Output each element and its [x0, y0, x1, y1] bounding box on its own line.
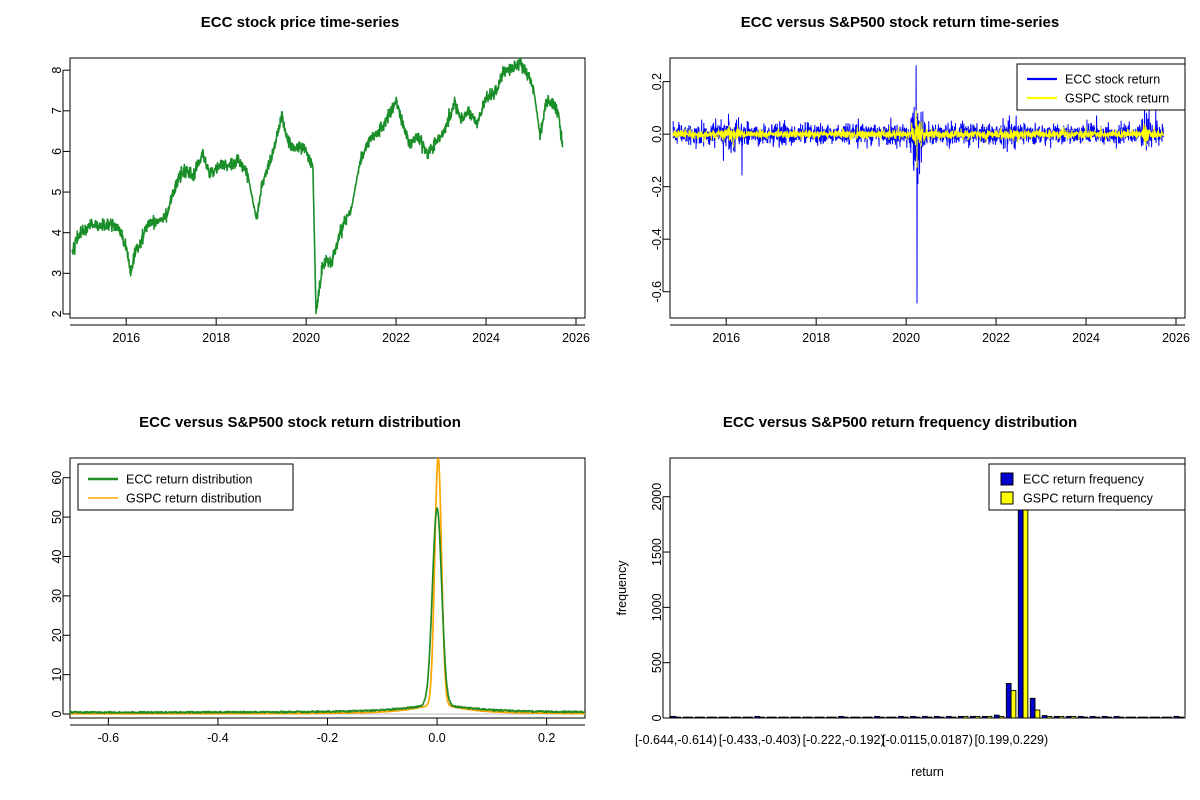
gspc-bar: [1167, 717, 1172, 718]
gspc-bar: [939, 717, 944, 718]
gspc-bar: [724, 717, 729, 718]
ecc-bar: [899, 716, 904, 718]
gspc-bar: [1119, 717, 1124, 718]
ecc-bar: [791, 717, 796, 718]
ecc-bar: [1102, 716, 1107, 718]
ecc-bar: [1162, 717, 1167, 718]
return-timeseries-chart: -0.6-0.4-0.20.00.22016201820202022202420…: [600, 0, 1200, 400]
legend-label: ECC return distribution: [126, 473, 252, 487]
panel-ecc-gspc-return-timeseries: ECC versus S&P500 stock return time-seri…: [600, 0, 1200, 400]
gspc-bar: [963, 716, 968, 718]
gspc-bar: [1071, 716, 1076, 718]
y-tick-label: 1500: [650, 538, 664, 566]
x-tick-label: 2020: [892, 331, 920, 345]
y-tick-label: 60: [50, 471, 64, 485]
x-tick-label: 2026: [1162, 331, 1190, 345]
gspc-bar: [700, 717, 705, 718]
ecc-bar: [1150, 717, 1155, 718]
y-tick-label: 1000: [650, 593, 664, 621]
ecc-bar: [827, 717, 832, 718]
x-tick-label: 2018: [802, 331, 830, 345]
panel-ecc-gspc-return-frequency: ECC versus S&P500 return frequency distr…: [600, 400, 1200, 800]
ecc-bar: [1066, 716, 1071, 718]
y-tick-label: 40: [50, 549, 64, 563]
ecc-bar: [1042, 716, 1047, 718]
gspc-bar: [1035, 710, 1040, 718]
x-tick-label: [-0.222,-0.192): [803, 733, 885, 747]
y-tick-label: 6: [50, 148, 64, 155]
legend-label: ECC return frequency: [1023, 473, 1145, 487]
x-tick-label: 2018: [202, 331, 230, 345]
x-tick-label: 2016: [712, 331, 740, 345]
y-tick-label: 2000: [650, 483, 664, 511]
y-tick-label: 500: [650, 652, 664, 673]
ecc-bar: [970, 716, 975, 718]
gspc-bar: [784, 717, 789, 718]
ecc-bar: [707, 717, 712, 718]
gspc-bar: [843, 717, 848, 718]
y-axis-title: frequency: [615, 560, 629, 616]
gspc-bar: [1023, 495, 1028, 718]
ecc-bar: [1126, 717, 1131, 718]
ecc-bar: [719, 717, 724, 718]
gspc-bar: [1131, 717, 1136, 718]
x-tick-label: 2020: [292, 331, 320, 345]
y-tick-label: 3: [50, 270, 64, 277]
ecc-bar: [1054, 716, 1059, 718]
gspc-bar: [855, 717, 860, 718]
x-tick-label: [-0.644,-0.614): [635, 733, 717, 747]
gspc-bar: [879, 717, 884, 718]
ecc-bar: [1030, 698, 1035, 718]
gspc-bar: [1059, 716, 1064, 718]
ecc-bar: [958, 716, 963, 718]
y-tick-label: -0.2: [650, 176, 664, 198]
gspc-bar: [867, 717, 872, 718]
gspc-bar: [1083, 717, 1088, 718]
ecc-bar: [1138, 717, 1143, 718]
legend-swatch-square: [1001, 492, 1013, 504]
ecc-bar: [1174, 716, 1179, 718]
ecc-bar: [1114, 716, 1119, 718]
gspc-bar: [807, 717, 812, 718]
ecc-density-line: [70, 508, 585, 713]
plot-frame: [70, 58, 585, 318]
ecc-bar: [671, 716, 676, 718]
x-tick-label: [-0.433,-0.403): [719, 733, 801, 747]
gspc-bar: [772, 717, 777, 718]
gspc-bar: [1107, 717, 1112, 718]
gspc-bar: [736, 717, 741, 718]
x-tick-label: -0.2: [317, 731, 339, 745]
ecc-bar: [767, 717, 772, 718]
x-tick-label: 0.0: [428, 731, 445, 745]
gspc-bar: [1143, 717, 1148, 718]
legend-label: GSPC return frequency: [1023, 492, 1154, 506]
ecc-bar: [887, 717, 892, 718]
x-tick-label: 2026: [562, 331, 590, 345]
ecc-bar: [755, 716, 760, 718]
figure-canvas: ECC stock price time-series 234567820162…: [0, 0, 1200, 800]
y-tick-label: 7: [50, 107, 64, 114]
x-tick-label: -0.6: [98, 731, 120, 745]
return-density-chart: 0102030405060-0.6-0.4-0.20.00.2ECC retur…: [0, 400, 600, 800]
gspc-bar: [748, 717, 753, 718]
y-tick-label: 0: [50, 711, 64, 718]
y-tick-label: 8: [50, 67, 64, 74]
gspc-bar: [1155, 717, 1160, 718]
ecc-bar: [731, 717, 736, 718]
ecc-bar: [1078, 716, 1083, 718]
ecc-price-line: [72, 58, 562, 313]
y-tick-label: 20: [50, 628, 64, 642]
y-tick-label: 50: [50, 510, 64, 524]
panel-ecc-price-timeseries: ECC stock price time-series 234567820162…: [0, 0, 600, 400]
gspc-bar: [891, 717, 896, 718]
panel-ecc-gspc-return-density: ECC versus S&P500 stock return distribut…: [0, 400, 600, 800]
gspc-bar: [760, 717, 765, 718]
y-tick-label: -0.4: [650, 228, 664, 250]
ecc-bar: [946, 716, 951, 718]
ecc-bar: [815, 717, 820, 718]
gspc-bar: [1095, 717, 1100, 718]
ecc-bar: [1006, 683, 1011, 718]
x-tick-label: 2024: [1072, 331, 1100, 345]
ecc-bar: [743, 717, 748, 718]
ecc-bar: [934, 716, 939, 718]
ecc-bar: [875, 716, 880, 718]
y-tick-label: 0.0: [650, 125, 664, 142]
gspc-bar: [999, 716, 1004, 718]
x-tick-label: 2016: [112, 331, 140, 345]
gspc-bar: [819, 717, 824, 718]
return-frequency-chart: 0500100015002000frequency[-0.644,-0.614)…: [600, 400, 1200, 800]
ecc-bar: [779, 717, 784, 718]
x-tick-label: [0.199,0.229): [975, 733, 1049, 747]
legend-label: ECC stock return: [1065, 73, 1160, 87]
x-axis-title: return: [911, 765, 944, 779]
y-tick-label: -0.6: [650, 281, 664, 303]
y-tick-label: 10: [50, 668, 64, 682]
legend-swatch-square: [1001, 473, 1013, 485]
ecc-bar: [683, 717, 688, 718]
gspc-bar: [831, 717, 836, 718]
x-tick-label: [-0.0115,0.0187): [882, 733, 973, 747]
ecc-bar: [839, 716, 844, 718]
ecc-price-chart: 2345678201620182020202220242026: [0, 0, 600, 400]
y-tick-label: 0: [650, 714, 664, 721]
ecc-bar: [910, 716, 915, 718]
x-tick-label: 2024: [472, 331, 500, 345]
ecc-bar: [922, 716, 927, 718]
x-tick-label: 2022: [382, 331, 410, 345]
gspc-bar: [1047, 716, 1052, 718]
x-tick-label: -0.4: [207, 731, 229, 745]
y-tick-label: 2: [50, 310, 64, 317]
gspc-bar: [987, 716, 992, 718]
gspc-bar: [915, 717, 920, 718]
gspc-bar: [712, 717, 717, 718]
ecc-bar: [994, 715, 999, 718]
ecc-bar: [1018, 501, 1023, 718]
ecc-bar: [851, 717, 856, 718]
gspc-bar: [796, 717, 801, 718]
gspc-bar: [903, 717, 908, 718]
gspc-bar: [688, 717, 693, 718]
y-tick-label: 30: [50, 589, 64, 603]
y-tick-label: 5: [50, 189, 64, 196]
ecc-bar: [695, 717, 700, 718]
gspc-bar: [1179, 717, 1184, 718]
ecc-bar: [1090, 716, 1095, 718]
gspc-bar: [676, 717, 681, 718]
y-tick-label: 0.2: [650, 73, 664, 90]
ecc-bar: [803, 717, 808, 718]
gspc-bar: [1011, 691, 1016, 718]
x-tick-label: 0.2: [538, 731, 555, 745]
ecc-bar: [863, 717, 868, 718]
x-tick-label: 2022: [982, 331, 1010, 345]
ecc-bar: [982, 716, 987, 718]
gspc-bar: [927, 717, 932, 718]
gspc-bar: [975, 716, 980, 718]
legend-label: GSPC return distribution: [126, 492, 262, 506]
legend-label: GSPC stock return: [1065, 92, 1169, 106]
gspc-bar: [951, 717, 956, 718]
y-tick-label: 4: [50, 229, 64, 236]
